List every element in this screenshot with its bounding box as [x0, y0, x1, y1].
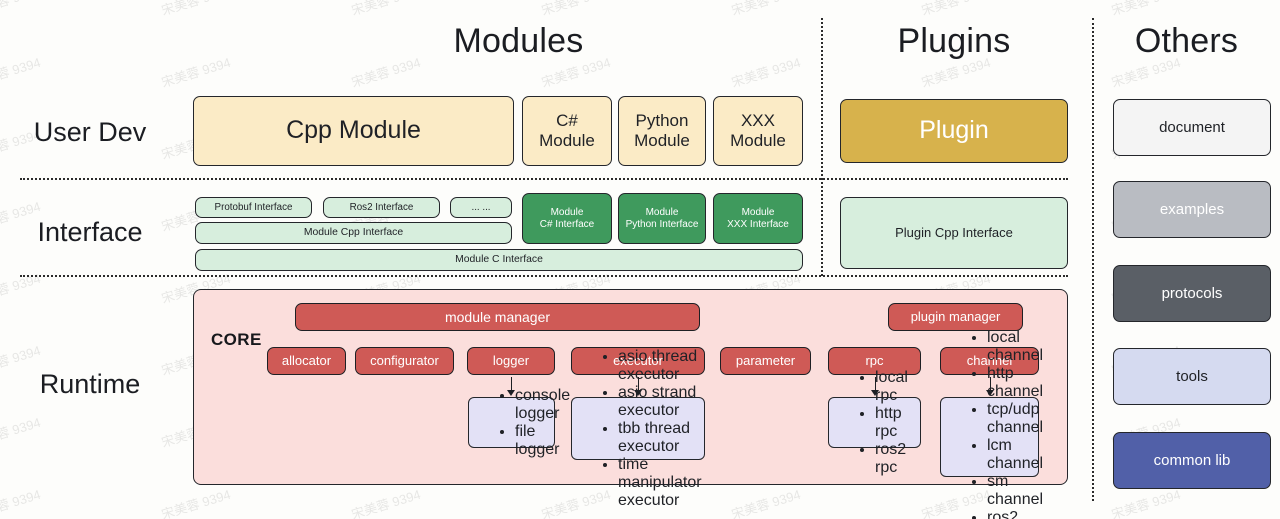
detail-list-executor: asio thread executorasio strand executor… — [578, 348, 702, 510]
others-box-common-lib[interactable]: common lib — [1113, 432, 1271, 489]
divider-interface-runtime — [20, 275, 1068, 277]
watermark-text: 宋美蓉 9394 — [159, 484, 233, 519]
module-box-xxx[interactable]: XXX Module — [713, 96, 803, 166]
others-box-tools[interactable]: tools — [1113, 348, 1271, 405]
detail-list-item: tbb thread executor — [618, 420, 702, 456]
detail-list-item: ros2 rpc — [875, 441, 916, 477]
detail-list-item: asio strand executor — [618, 384, 702, 420]
column-title-others: Others — [1104, 22, 1269, 61]
watermark-text: 宋美蓉 9394 — [159, 0, 233, 19]
interface-box-ros2[interactable]: Ros2 Interface — [323, 197, 440, 218]
watermark-text: 宋美蓉 9394 — [349, 484, 423, 519]
detail-box-rpc: local rpchttp rpcros2 rpc — [828, 397, 921, 448]
divider-userdev-interface — [20, 178, 1068, 180]
divider-plugins-others — [1092, 18, 1094, 501]
column-title-plugins: Plugins — [838, 22, 1070, 61]
others-box-protocols[interactable]: protocols — [1113, 265, 1271, 322]
watermark-text: 宋美蓉 9394 — [0, 52, 43, 91]
core-box-plugin-manager[interactable]: plugin manager — [888, 303, 1023, 331]
detail-list-item: sm channel — [987, 473, 1043, 509]
interface-box-ellipsis[interactable]: ... ... — [450, 197, 512, 218]
detail-box-logger: console loggerfile logger — [468, 397, 555, 448]
detail-list-item: tcp/udp channel — [987, 401, 1043, 437]
detail-list-item: file logger — [515, 423, 570, 459]
divider-modules-plugins — [821, 18, 823, 276]
detail-list-rpc: local rpchttp rpcros2 rpc — [835, 369, 916, 477]
watermark-text: 宋美蓉 9394 — [0, 0, 43, 19]
core-box-logger[interactable]: logger — [467, 347, 555, 375]
detail-box-executor: asio thread executorasio strand executor… — [571, 397, 705, 460]
detail-list-item: local channel — [987, 329, 1043, 365]
row-label-user-dev: User Dev — [10, 117, 170, 148]
detail-list-item: asio thread executor — [618, 348, 702, 384]
watermark-text: 宋美蓉 9394 — [0, 268, 43, 307]
watermark-text: 宋美蓉 9394 — [539, 0, 613, 19]
core-box-parameter[interactable]: parameter — [720, 347, 811, 375]
detail-list-item: local rpc — [875, 369, 916, 405]
detail-list-item: ros2 channel — [987, 509, 1043, 519]
row-label-runtime: Runtime — [10, 369, 170, 400]
detail-list-channel: local channelhttp channeltcp/udp channel… — [947, 329, 1043, 519]
others-box-examples[interactable]: examples — [1113, 181, 1271, 238]
watermark-text: 宋美蓉 9394 — [729, 52, 803, 91]
module-box-cpp[interactable]: Cpp Module — [193, 96, 514, 166]
core-label: CORE — [211, 330, 262, 350]
interface-box-module-cpp[interactable]: Module Cpp Interface — [195, 222, 512, 244]
interface-box-module-python[interactable]: Module Python Interface — [618, 193, 706, 244]
interface-box-module-csharp[interactable]: Module C# Interface — [522, 193, 612, 244]
detail-list-item: console logger — [515, 387, 570, 423]
module-box-python[interactable]: Python Module — [618, 96, 706, 166]
detail-box-channel: local channelhttp channeltcp/udp channel… — [940, 397, 1039, 477]
core-box-configurator[interactable]: configurator — [355, 347, 454, 375]
watermark-text: 宋美蓉 9394 — [349, 0, 423, 19]
detail-list-item: time manipulator executor — [618, 456, 702, 510]
row-label-interface: Interface — [10, 217, 170, 248]
interface-box-module-c[interactable]: Module C Interface — [195, 249, 803, 271]
detail-list-item: lcm channel — [987, 437, 1043, 473]
interface-box-module-xxx[interactable]: Module XXX Interface — [713, 193, 803, 244]
watermark-text: 宋美蓉 9394 — [1109, 484, 1183, 519]
interface-box-plugin-cpp[interactable]: Plugin Cpp Interface — [840, 197, 1068, 269]
watermark-text: 宋美蓉 9394 — [729, 0, 803, 19]
detail-list-item: http channel — [987, 365, 1043, 401]
interface-box-protobuf[interactable]: Protobuf Interface — [195, 197, 312, 218]
architecture-diagram: 宋美蓉 9394宋美蓉 9394宋美蓉 9394宋美蓉 9394宋美蓉 9394… — [0, 0, 1280, 519]
module-box-csharp[interactable]: C# Module — [522, 96, 612, 166]
watermark-text: 宋美蓉 9394 — [1109, 0, 1183, 19]
core-box-allocator[interactable]: allocator — [267, 347, 346, 375]
plugin-box[interactable]: Plugin — [840, 99, 1068, 163]
watermark-text: 宋美蓉 9394 — [159, 52, 233, 91]
watermark-text: 宋美蓉 9394 — [0, 412, 43, 451]
detail-list-logger: console loggerfile logger — [475, 387, 570, 459]
others-box-document[interactable]: document — [1113, 99, 1271, 156]
core-box-module-manager[interactable]: module manager — [295, 303, 700, 331]
watermark-text: 宋美蓉 9394 — [729, 484, 803, 519]
detail-list-item: http rpc — [875, 405, 916, 441]
watermark-text: 宋美蓉 9394 — [919, 0, 993, 19]
watermark-text: 宋美蓉 9394 — [0, 484, 43, 519]
column-title-modules: Modules — [381, 22, 656, 61]
